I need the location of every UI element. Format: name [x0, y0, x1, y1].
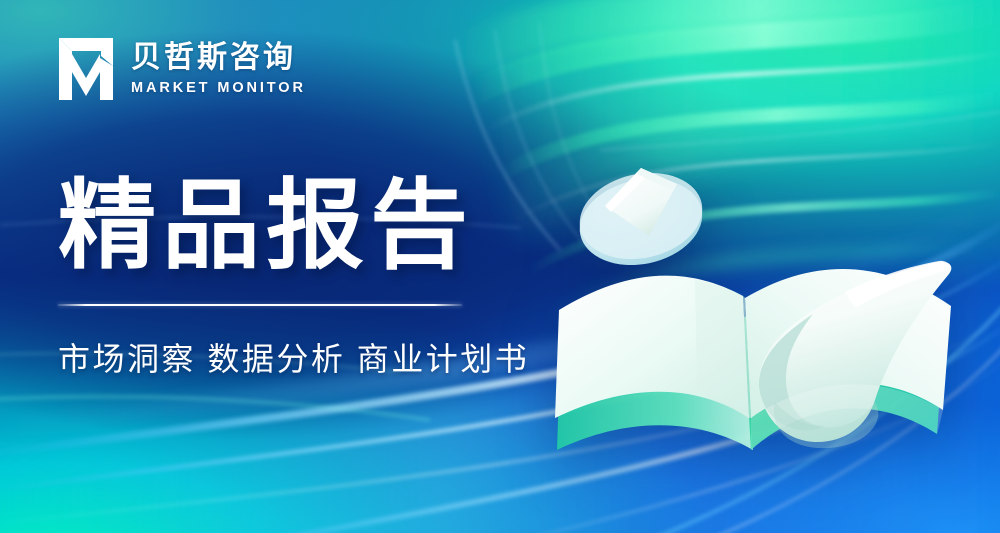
brand-name-en: MARKET MONITOR	[131, 80, 306, 97]
page-title: 精品报告	[58, 176, 529, 276]
report-banner: 贝哲斯咨询 MARKET MONITOR 精品报告 市场洞察 数据分析 商业计划…	[0, 0, 1000, 533]
open-book-illustration	[545, 150, 965, 460]
brand-name-cn: 贝哲斯咨询	[131, 41, 306, 75]
brand-logo[interactable]: 贝哲斯咨询 MARKET MONITOR	[55, 36, 306, 102]
brand-text: 贝哲斯咨询 MARKET MONITOR	[131, 41, 306, 97]
m-monogram-icon	[55, 36, 117, 102]
title-divider	[58, 304, 462, 306]
headline-block: 精品报告 市场洞察 数据分析 商业计划书	[58, 176, 529, 380]
page-subtitle: 市场洞察 数据分析 商业计划书	[58, 334, 529, 380]
disc-lens-icon	[572, 162, 711, 276]
